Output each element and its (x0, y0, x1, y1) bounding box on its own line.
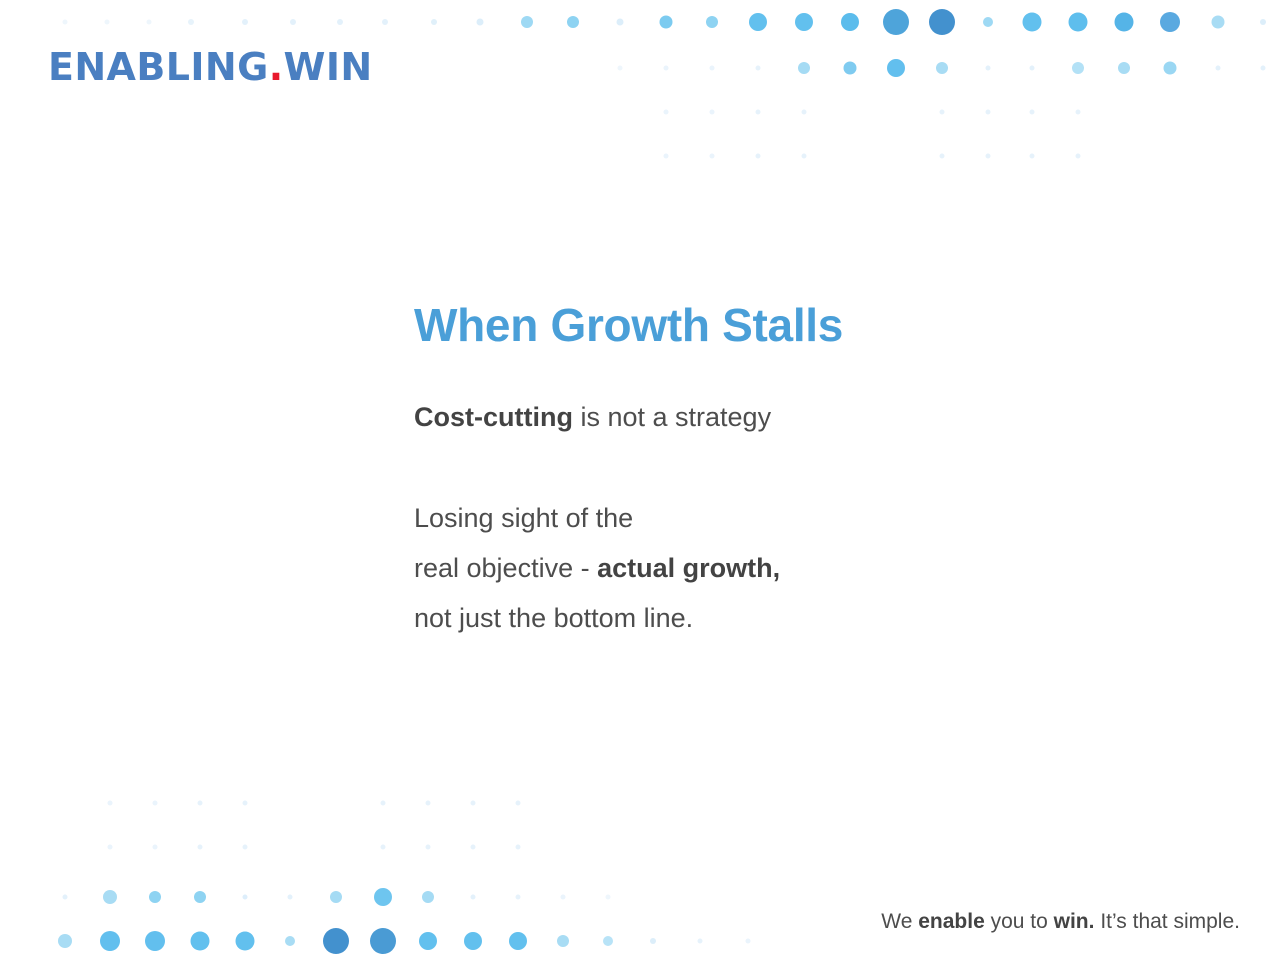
decorative-dot (756, 66, 761, 71)
body-line-2-emphasis: actual growth, (597, 553, 780, 583)
decorative-dot (1030, 110, 1035, 115)
decorative-dot (618, 66, 623, 71)
decorative-dot (664, 154, 669, 159)
decorative-dot (516, 801, 521, 806)
decorative-dot (516, 845, 521, 850)
slide-content: When Growth Stalls Cost-cutting is not a… (414, 300, 1194, 643)
decorative-dot (1076, 154, 1081, 159)
decorative-dot (749, 13, 767, 31)
decorative-dot (243, 895, 248, 900)
decorative-dot (706, 16, 718, 28)
decorative-dot (603, 936, 613, 946)
decorative-dot (1072, 62, 1084, 74)
decorative-dot (285, 936, 295, 946)
decorative-dot (191, 932, 210, 951)
decorative-dot (147, 20, 152, 25)
decorative-dot (710, 66, 715, 71)
decorative-dot (323, 928, 349, 954)
decorative-dot (194, 891, 206, 903)
brand-logo-part2: WIN (284, 45, 373, 89)
decorative-dot (1164, 62, 1177, 75)
decorative-dot (471, 801, 476, 806)
decorative-dot (63, 20, 68, 25)
decorative-dot (521, 16, 533, 28)
decorative-dot (108, 801, 113, 806)
decorative-dot (471, 895, 476, 900)
brand-logo[interactable]: ENABLING.WIN (48, 48, 373, 86)
decorative-dot (710, 110, 715, 115)
tagline-part-3: It’s that simple. (1094, 910, 1240, 933)
tagline-emphasis-enable: enable (918, 910, 985, 933)
decorative-dot (516, 895, 521, 900)
decorative-dot (756, 154, 761, 159)
decorative-dot (887, 59, 905, 77)
decorative-dot (381, 801, 386, 806)
decorative-dot (660, 16, 673, 29)
decorative-dot (710, 154, 715, 159)
footer-tagline: We enable you to win. It’s that simple. (881, 909, 1240, 934)
decorative-dot (650, 938, 656, 944)
decorative-dot (509, 932, 527, 950)
decorative-dot (370, 928, 396, 954)
decorative-dot (802, 154, 807, 159)
decorative-dot (471, 845, 476, 850)
decorative-dot (381, 845, 386, 850)
slide-canvas: ENABLING.WIN When Growth Stalls Cost-cut… (0, 0, 1280, 960)
page-title: When Growth Stalls (414, 300, 1194, 352)
decorative-dot (1216, 66, 1221, 71)
brand-logo-part1: ENABLING (48, 45, 269, 89)
decorative-dot (330, 891, 342, 903)
decorative-dot (746, 939, 751, 944)
decorative-dot (983, 17, 993, 27)
decorative-dot (1030, 66, 1035, 71)
decorative-dot (477, 19, 484, 26)
decorative-dot (108, 845, 113, 850)
decorative-dot (1115, 13, 1134, 32)
body-line-2: real objective - actual growth, (414, 543, 1194, 593)
decorative-dot (986, 154, 991, 159)
body-line-1: Losing sight of the (414, 493, 1194, 543)
lead-statement: Cost-cutting is not a strategy (414, 400, 1194, 435)
decorative-dot (1212, 16, 1225, 29)
decorative-dot (63, 895, 68, 900)
decorative-dot (58, 934, 72, 948)
decorative-dot (1260, 19, 1266, 25)
decorative-dot (153, 845, 158, 850)
decorative-dot (1069, 13, 1088, 32)
decorative-dot (1160, 12, 1180, 32)
decorative-dot (198, 801, 203, 806)
decorative-dot (337, 19, 343, 25)
tagline-part-2: you to (985, 910, 1054, 933)
decorative-dot (426, 845, 431, 850)
decorative-dot (198, 845, 203, 850)
decorative-dot (795, 13, 813, 31)
decorative-dot (841, 13, 859, 31)
tagline-part-1: We (881, 910, 918, 933)
decorative-dot (145, 931, 165, 951)
decorative-dot (1118, 62, 1130, 74)
lead-emphasis: Cost-cutting (414, 402, 573, 432)
decorative-dot (149, 891, 161, 903)
decorative-dot (1030, 154, 1035, 159)
body-copy: Losing sight of the real objective - act… (414, 493, 1194, 643)
decorative-dot (940, 110, 945, 115)
decorative-dot (606, 895, 611, 900)
decorative-dot (103, 890, 117, 904)
decorative-dot (664, 66, 669, 71)
body-line-2-pre: real objective - (414, 553, 597, 583)
body-line-3: not just the bottom line. (414, 593, 1194, 643)
decorative-dot (986, 110, 991, 115)
decorative-dot (567, 16, 579, 28)
decorative-dot (664, 110, 669, 115)
decorative-dot (617, 19, 624, 26)
decorative-dot (1076, 110, 1081, 115)
decorative-dot (756, 110, 761, 115)
decorative-dot (986, 66, 991, 71)
decorative-dot (936, 62, 948, 74)
decorative-dot (382, 19, 388, 25)
decorative-dot (419, 932, 437, 950)
decorative-dot (431, 19, 437, 25)
brand-logo-dot: . (269, 45, 284, 89)
decorative-dot (242, 19, 248, 25)
decorative-dot (105, 20, 110, 25)
decorative-dot (561, 895, 566, 900)
decorative-dot (153, 801, 158, 806)
decorative-dot (940, 154, 945, 159)
decorative-dot (883, 9, 909, 35)
decorative-dot (236, 932, 255, 951)
lead-rest: is not a strategy (573, 402, 771, 432)
decorative-dot (288, 895, 293, 900)
decorative-dot (1261, 66, 1266, 71)
decorative-dot (1023, 13, 1042, 32)
decorative-dot (929, 9, 955, 35)
decorative-dot (798, 62, 810, 74)
decorative-dot (426, 801, 431, 806)
decorative-dot (464, 932, 482, 950)
decorative-dot (422, 891, 434, 903)
decorative-dot (557, 935, 569, 947)
decorative-dot (698, 939, 703, 944)
decorative-dot (290, 19, 296, 25)
decorative-dot (188, 19, 194, 25)
decorative-dot (374, 888, 392, 906)
tagline-emphasis-win: win. (1054, 910, 1095, 933)
decorative-dot (802, 110, 807, 115)
decorative-dot (243, 801, 248, 806)
decorative-dot (100, 931, 120, 951)
decorative-dot (243, 845, 248, 850)
decorative-dot (844, 62, 857, 75)
